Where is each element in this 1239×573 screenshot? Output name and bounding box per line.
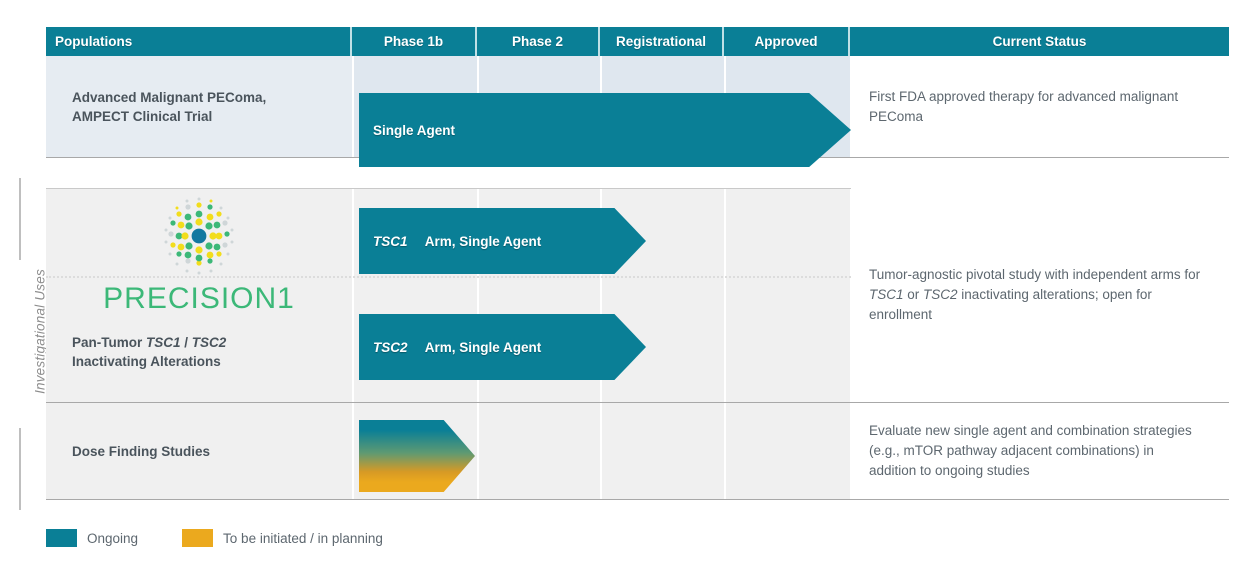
group-top-divider [46, 188, 851, 189]
precision1-logo: PRECISION1 [46, 188, 352, 314]
arrow-label-rest: Arm, Single Agent [408, 234, 542, 249]
progress-arrow-label: TSC2 Arm, Single Agent [359, 340, 541, 355]
status-text-dose-finding: Evaluate new single agent and combinatio… [852, 421, 1229, 481]
row-phase-2-cell [477, 402, 600, 500]
column-header-populations: Populations [46, 27, 352, 56]
gene-name-tsc1: TSC1 [146, 335, 181, 350]
gene-name-tsc1: TSC1 [373, 234, 408, 249]
population-label-pecoma: Advanced Malignant PEComa, AMPECT Clinic… [46, 88, 278, 126]
rail-line-bottom [19, 428, 21, 510]
arm-dotted-divider [46, 276, 851, 278]
legend: Ongoing To be initiated / in planning [46, 529, 427, 547]
column-header-phase-1b: Phase 1b [352, 27, 477, 56]
row-population-cell: Advanced Malignant PEComa, AMPECT Clinic… [46, 56, 352, 158]
gene-name-tsc2: TSC2 [923, 287, 958, 302]
row-population-cell: Dose Finding Studies [46, 402, 352, 500]
legend-label-planned: To be initiated / in planning [223, 531, 383, 546]
group-bottom-divider [46, 499, 1229, 500]
row-approved-cell [724, 188, 850, 402]
progress-arrow-label: Single Agent [359, 123, 455, 138]
pipeline-table: Populations Phase 1b Phase 2 Registratio… [46, 27, 1229, 500]
population-separator: / [181, 335, 192, 350]
table-row-advanced-malignant-pecoma: Advanced Malignant PEComa, AMPECT Clinic… [46, 56, 1229, 158]
investigational-group: PRECISION1 Pan-Tumor TSC1 / TSC2 Inactiv… [46, 188, 1229, 500]
legend-swatch-planned [182, 529, 213, 547]
gene-name-tsc1: TSC1 [869, 287, 904, 302]
population-line-2: AMPECT Clinical Trial [72, 109, 212, 124]
population-line-1: Advanced Malignant PEComa, [72, 90, 266, 105]
investigational-uses-rail: Investigational Uses [0, 178, 40, 510]
legend-label-ongoing: Ongoing [87, 531, 138, 546]
gene-name-tsc2: TSC2 [373, 340, 408, 355]
progress-arrow-label: TSC1 Arm, Single Agent [359, 234, 541, 249]
progress-arrow-single-agent[interactable]: Single Agent [359, 93, 851, 167]
radial-dots-icon [156, 193, 242, 279]
precision1-wordmark: PRECISION1 [103, 284, 295, 314]
column-header-current-status: Current Status [850, 27, 1229, 56]
rail-line-top [19, 178, 21, 260]
status-text-pecoma: First FDA approved therapy for advanced … [852, 87, 1229, 127]
progress-arrow-tsc2-arm[interactable]: TSC2 Arm, Single Agent [359, 314, 646, 380]
population-prefix: Pan-Tumor [72, 335, 146, 350]
row-divider [46, 402, 1229, 403]
table-row-dose-finding-studies: Dose Finding Studies Evaluate new single… [46, 402, 1229, 500]
legend-swatch-ongoing [46, 529, 77, 547]
table-header-row: Populations Phase 1b Phase 2 Registratio… [46, 27, 1229, 56]
gene-name-tsc2: TSC2 [192, 335, 227, 350]
row-registrational-cell [600, 402, 724, 500]
column-header-approved: Approved [724, 27, 850, 56]
row-approved-cell [724, 402, 850, 500]
row-status-cell: Evaluate new single agent and combinatio… [850, 402, 1229, 500]
column-header-registrational: Registrational [600, 27, 724, 56]
legend-item-planned: To be initiated / in planning [182, 529, 383, 547]
row-status-cell: First FDA approved therapy for advanced … [850, 56, 1229, 158]
row-population-cell: PRECISION1 Pan-Tumor TSC1 / TSC2 Inactiv… [46, 188, 352, 402]
progress-arrow-tsc1-arm[interactable]: TSC1 Arm, Single Agent [359, 208, 646, 274]
row-status-cell: Tumor-agnostic pivotal study with indepe… [850, 188, 1229, 402]
legend-item-ongoing: Ongoing [46, 529, 138, 547]
status-part-2: or [904, 287, 924, 302]
population-label-dose-finding: Dose Finding Studies [46, 442, 222, 461]
status-text-pan-tumor: Tumor-agnostic pivotal study with indepe… [852, 265, 1229, 325]
population-label-pan-tumor: Pan-Tumor TSC1 / TSC2 Inactivating Alter… [46, 333, 352, 371]
population-line-2: Inactivating Alterations [72, 354, 221, 369]
arrow-label-rest: Arm, Single Agent [408, 340, 542, 355]
column-header-phase-2: Phase 2 [477, 27, 600, 56]
table-row-pan-tumor-tsc1-tsc2: PRECISION1 Pan-Tumor TSC1 / TSC2 Inactiv… [46, 188, 1229, 402]
status-part-1: Tumor-agnostic pivotal study with indepe… [869, 267, 1200, 282]
